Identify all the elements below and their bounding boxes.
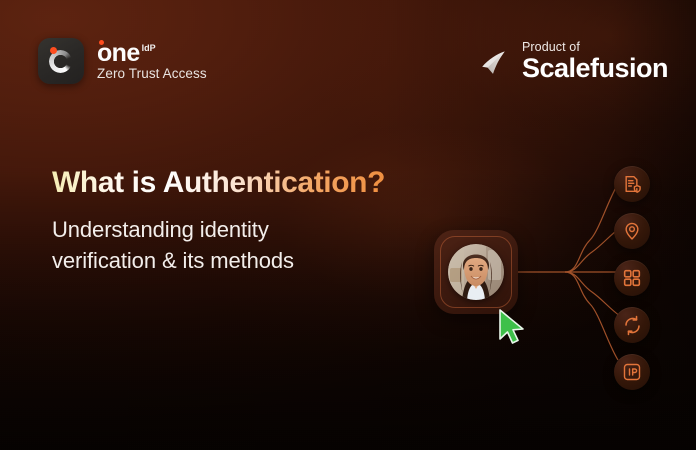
product-of-label: Product of [522, 40, 580, 54]
scalefusion-plane-icon [475, 46, 511, 82]
document-shield-icon [622, 174, 642, 194]
node-ip-badge[interactable] [614, 354, 650, 390]
ip-badge-icon [622, 362, 642, 382]
node-grid-apps[interactable] [614, 260, 650, 296]
ring-accent-dot-icon [50, 47, 57, 54]
oneidp-ring-logo-icon [38, 38, 84, 84]
copy-block: What is Authentication? Understanding id… [52, 165, 452, 276]
grid-apps-icon [622, 268, 642, 288]
header: oneIdP Zero Trust Access [0, 0, 696, 118]
oneidp-tagline: Zero Trust Access [97, 67, 207, 82]
location-pin-icon [622, 221, 642, 241]
oneidp-superscript: IdP [142, 43, 156, 53]
scalefusion-text: Product of Scalefusion [522, 40, 668, 82]
smiling-woman-portrait [448, 244, 504, 300]
page-subtitle: Understanding identity verification & it… [52, 215, 452, 276]
node-sync-refresh[interactable] [614, 307, 650, 343]
scalefusion-wordmark: Scalefusion [522, 55, 668, 82]
avatar [448, 244, 504, 300]
node-location-pin[interactable] [614, 213, 650, 249]
page-subtitle-line-1: Understanding identity [52, 215, 452, 245]
wordmark-accent-dot-icon [99, 40, 104, 45]
node-document-shield[interactable] [614, 166, 650, 202]
oneidp-wordmark: oneIdP [97, 41, 207, 66]
scalefusion-brand-lockup[interactable]: Product of Scalefusion [475, 40, 668, 82]
oneidp-brand-text: oneIdP Zero Trust Access [97, 41, 207, 82]
poster-canvas: oneIdP Zero Trust Access [0, 0, 696, 450]
oneidp-brand-lockup[interactable]: oneIdP Zero Trust Access [38, 38, 207, 84]
page-title: What is Authentication? [52, 165, 385, 200]
page-subtitle-line-2: verification & its methods [52, 246, 452, 276]
authentication-methods-diagram [418, 140, 696, 410]
sync-refresh-icon [622, 315, 643, 336]
pointer-cursor-icon [496, 308, 530, 346]
face-identity-card[interactable] [434, 230, 518, 314]
